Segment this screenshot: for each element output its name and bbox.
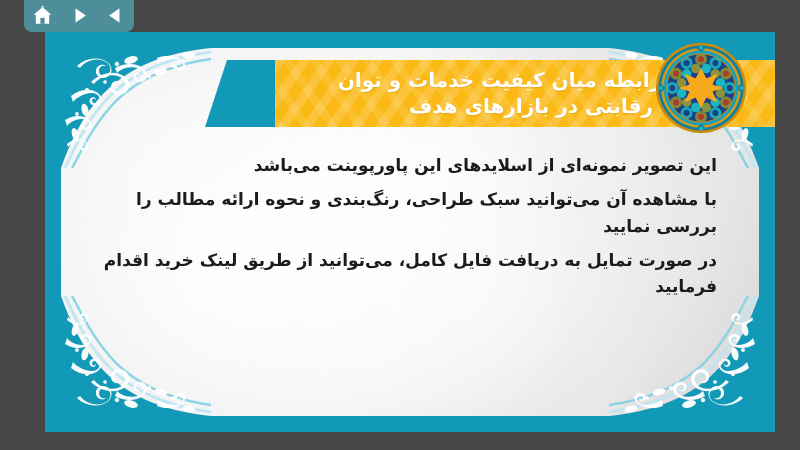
next-button[interactable] (66, 3, 92, 27)
slide-viewer: این تصویر نمونه‌ای از اسلایدهای این پاور… (0, 0, 800, 450)
triangle-right-icon (70, 6, 89, 25)
ornament-corner-bottom-right (609, 296, 759, 416)
body-line-2: با مشاهده آن می‌توانید سبک طراحی، رنگ‌بن… (103, 187, 717, 240)
body-line-3: در صورت تمایل به دریافت فایل کامل، می‌تو… (103, 248, 717, 301)
ornament-corner-bottom-left (61, 296, 211, 416)
navigation-bar (24, 0, 134, 32)
home-button[interactable] (29, 3, 55, 27)
previous-button[interactable] (103, 3, 129, 27)
slide-body-text: این تصویر نمونه‌ای از اسلایدهای این پاور… (103, 153, 717, 309)
persian-medallion-ornament (653, 40, 749, 136)
triangle-left-icon (106, 6, 125, 25)
ornament-corner-top-left (61, 48, 211, 168)
slide-frame: این تصویر نمونه‌ای از اسلایدهای این پاور… (45, 32, 775, 432)
body-line-1: این تصویر نمونه‌ای از اسلایدهای این پاور… (103, 153, 717, 179)
home-icon (32, 5, 53, 26)
